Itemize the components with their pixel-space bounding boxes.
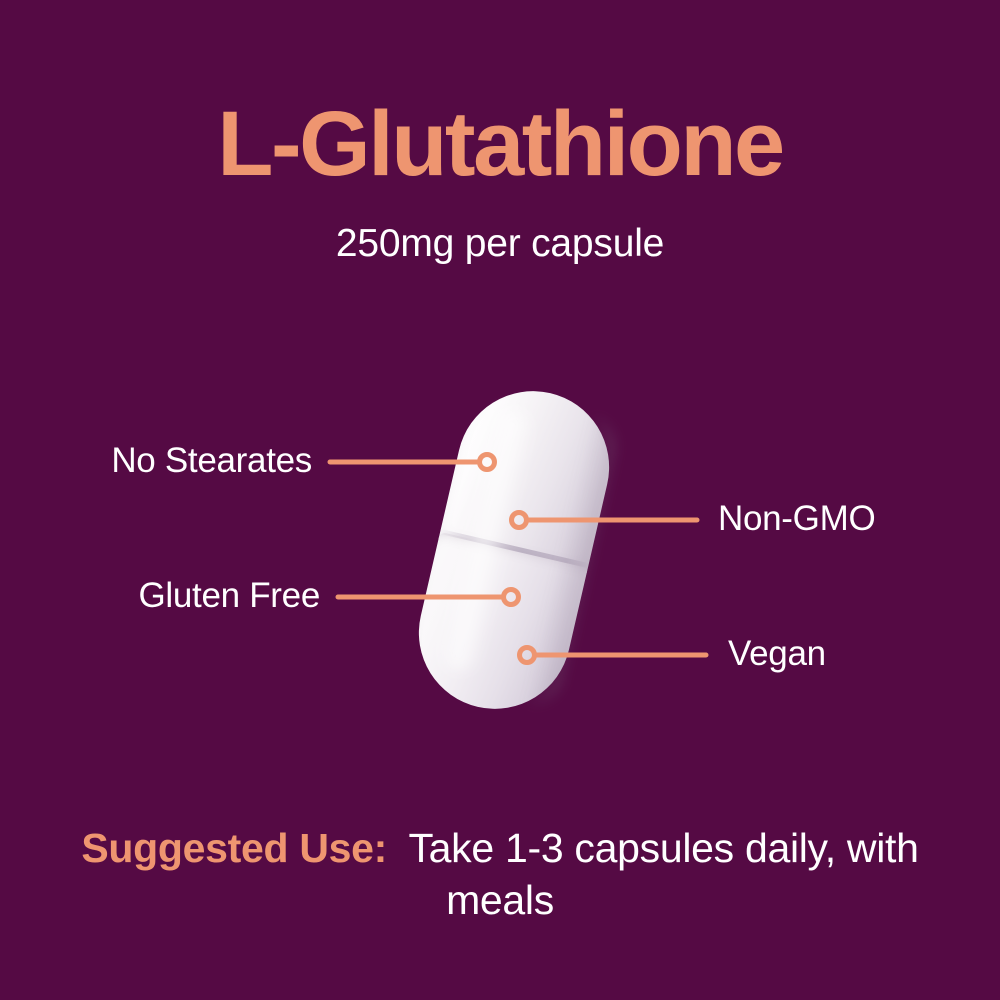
- suggested-use: Suggested Use: Take 1-3 capsules daily, …: [60, 822, 940, 927]
- product-infographic: L-Glutathione 250mg per capsule No Stear…: [0, 0, 1000, 1000]
- callout-label-vegan: Vegan: [728, 636, 826, 671]
- capsule-image: [411, 385, 616, 715]
- callout-label-no-stearates: No Stearates: [0, 443, 312, 478]
- dosage-subtitle: 250mg per capsule: [0, 224, 1000, 263]
- capsule-body: [403, 376, 624, 724]
- callout-label-gluten-free: Gluten Free: [0, 578, 320, 613]
- suggested-use-label: Suggested Use:: [81, 825, 387, 871]
- page-title: L-Glutathione: [0, 98, 1000, 190]
- suggested-use-text: Take 1-3 capsules daily, with meals: [408, 825, 918, 923]
- callout-label-non-gmo: Non-GMO: [718, 501, 875, 536]
